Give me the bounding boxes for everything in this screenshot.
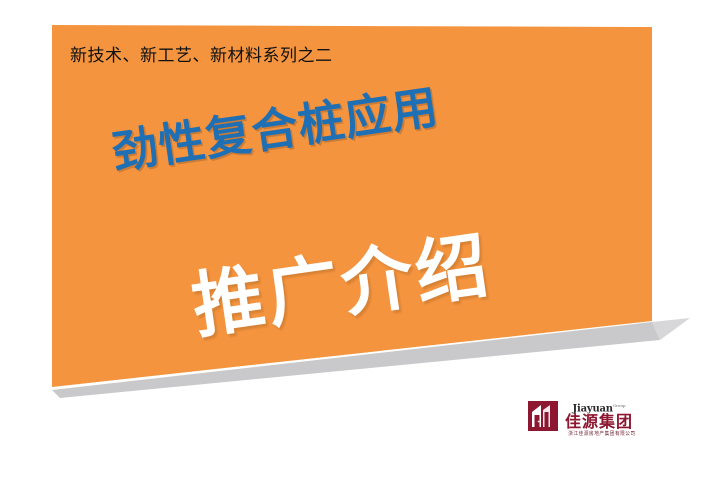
logo-latin-superscript: Group <box>613 403 626 408</box>
company-logo: JiayuanGroup 佳源集团 浙江佳源房地产集团有限公司 <box>528 399 636 447</box>
logo-latin-name: JiayuanGroup <box>562 400 636 414</box>
logo-tagline: 浙江佳源房地产集团有限公司 <box>556 431 648 439</box>
presentation-slide: 新技术、新工艺、新材料系列之二 劲性复合桩应用 推广介绍 JiayuanGrou… <box>0 0 702 496</box>
logo-chinese-name: 佳源集团 <box>562 413 636 431</box>
slide-subtitle: 新技术、新工艺、新材料系列之二 <box>70 46 333 66</box>
logo-text-block: JiayuanGroup 佳源集团 浙江佳源房地产集团有限公司 <box>562 399 636 438</box>
logo-latin-word: Jiayuan <box>572 403 612 414</box>
house-mark-icon <box>528 401 558 431</box>
